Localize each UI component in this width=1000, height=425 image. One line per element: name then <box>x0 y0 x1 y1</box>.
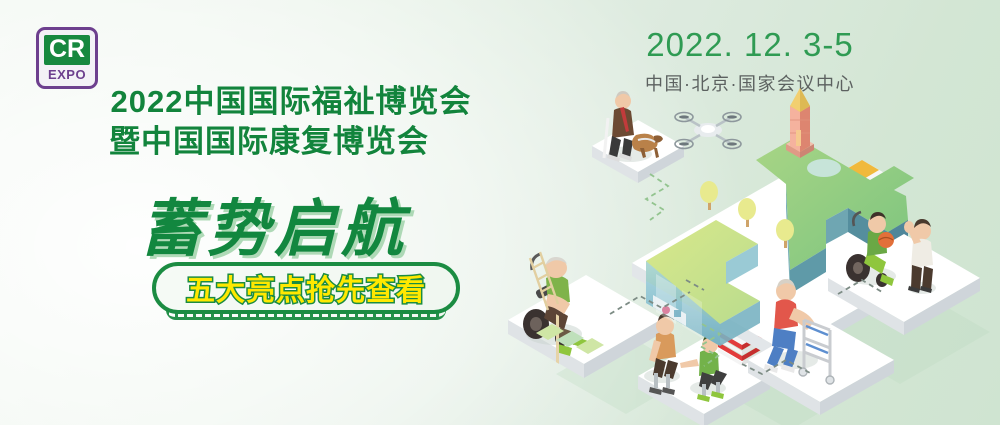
headline-slogan: 蓄势启航 <box>0 178 520 268</box>
highlights-cta-label: 五大亮点抢先查看 <box>186 267 426 309</box>
event-date: 2022. 12. 3-5 <box>600 26 900 64</box>
drone <box>675 113 741 149</box>
logo-mark-text: CR <box>44 35 90 65</box>
isometric-illustration <box>490 88 1000 425</box>
cta-stitch-decoration <box>166 310 446 320</box>
expo-banner: CR EXPO 2022中国国际福祉博览会 暨中国国际康复博览会 蓄势启航 五大… <box>0 0 1000 425</box>
highlights-cta-button[interactable]: 五大亮点抢先查看 <box>152 262 460 314</box>
obelisk-tower <box>786 88 814 158</box>
page-title-line1: 2022中国国际福祉博览会 <box>0 76 520 121</box>
page-title-line2: 暨中国国际康复博览会 <box>0 116 520 161</box>
